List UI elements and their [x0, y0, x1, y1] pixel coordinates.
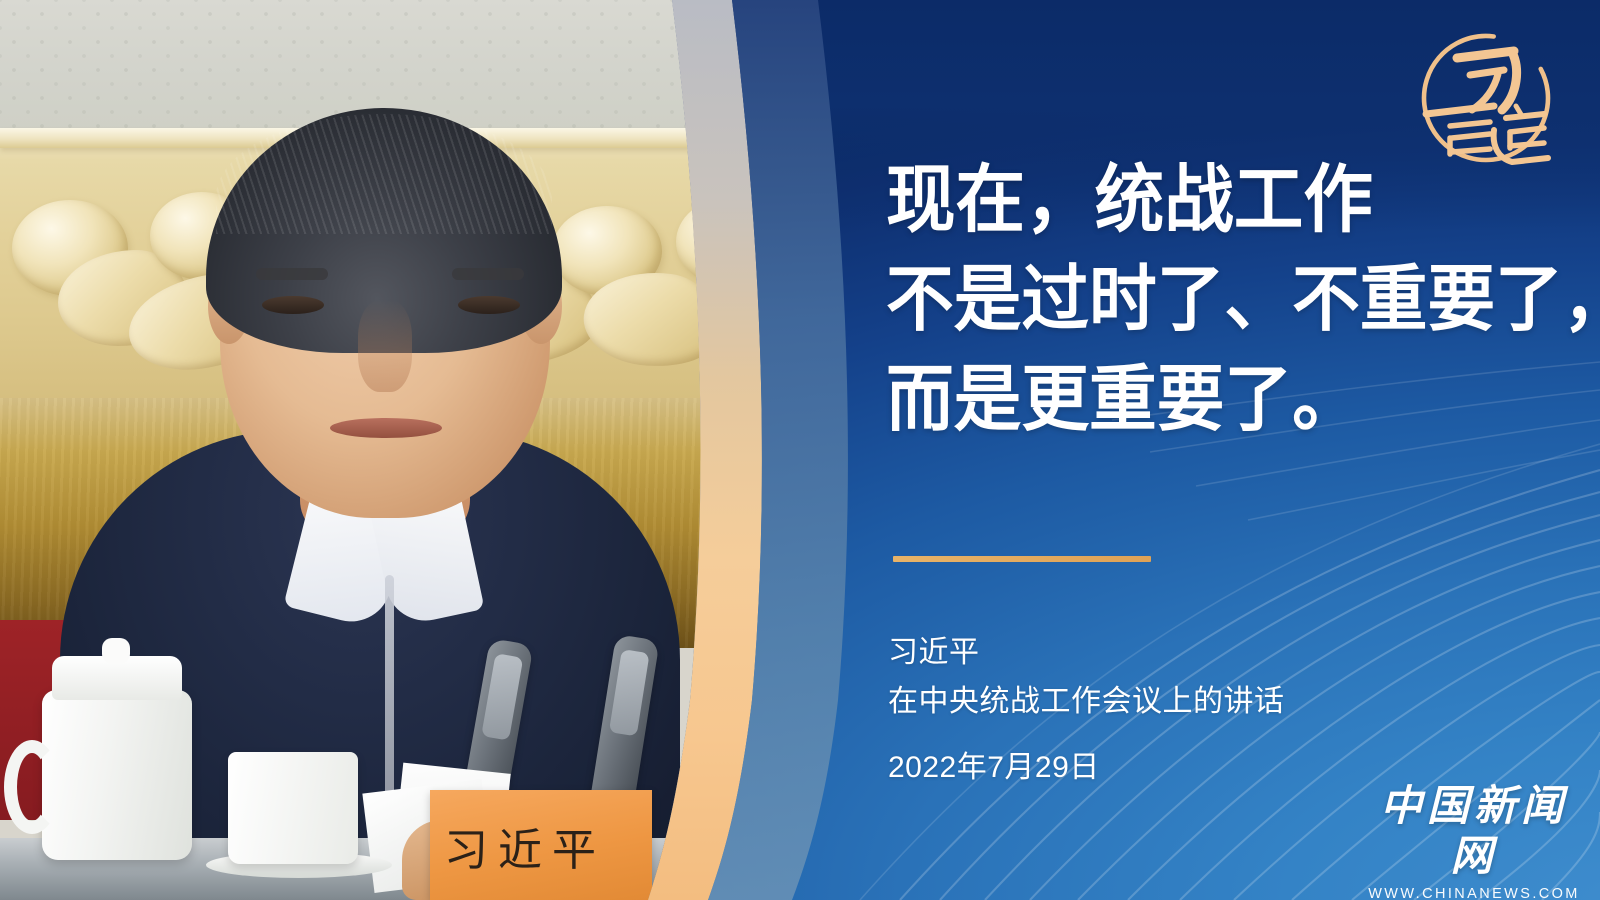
brand-name-cn: 中国新闻网	[1368, 782, 1580, 882]
name-card: 习近平	[430, 790, 652, 900]
attribution-block: 习近平 在中央统战工作会议上的讲话	[888, 628, 1285, 726]
subject-photo: 习近平	[0, 0, 800, 900]
brand-url: WWW.CHINANEWS.COM	[1368, 886, 1580, 900]
name-card-text: 习近平	[444, 814, 606, 878]
attribution-date: 2022年7月29日	[888, 742, 1100, 786]
quote-line-1: 现在，统战工作	[886, 150, 1544, 250]
lidded-teacup	[42, 690, 192, 860]
brand-logo: 中国新闻网 WWW.CHINANEWS.COM	[1368, 782, 1580, 900]
nose-shadow	[358, 300, 412, 392]
poster-canvas: 习近平	[0, 0, 1600, 900]
attribution-speaker: 习近平	[888, 628, 1285, 677]
quote-block: 现在，统战工作 不是过时了、不重要了， 而是更重要了。	[886, 150, 1586, 450]
cup-handle	[4, 740, 60, 834]
quote-line-3: 而是更重要了。	[886, 350, 1544, 450]
mouth	[330, 418, 442, 438]
white-mug	[228, 752, 358, 864]
quote-line-2: 不是过时了、不重要了，	[886, 250, 1544, 350]
gold-divider	[893, 556, 1151, 562]
attribution-occasion: 在中央统战工作会议上的讲话	[888, 677, 1285, 726]
